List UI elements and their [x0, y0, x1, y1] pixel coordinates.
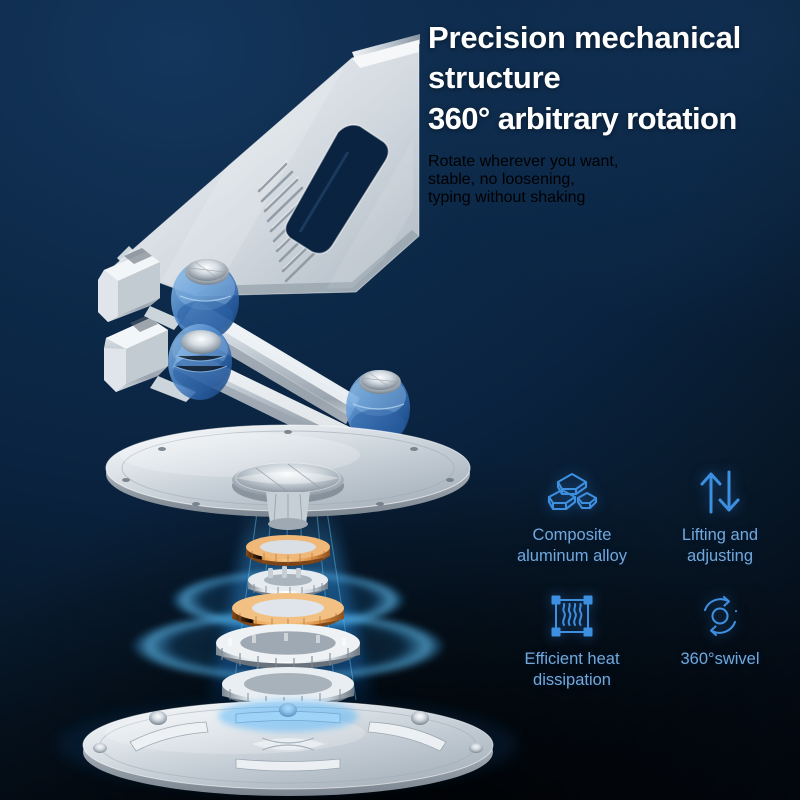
feature-360-swivel: 360°swivel [646, 590, 794, 692]
feature-label: 360°swivel [680, 649, 759, 670]
page-title: Precision mechanical structure 360° arbi… [428, 18, 790, 139]
bearing-ring-copper-upper [246, 535, 330, 566]
aluminum-ingots-icon [545, 466, 599, 518]
product-marketing-poster: Precision mechanical structure 360° arbi… [0, 0, 800, 800]
base-glow [218, 700, 358, 732]
heat-dissipation-icon [548, 590, 596, 642]
feature-label: Efficient heat dissipation [524, 649, 619, 692]
subcopy-line-2: stable, no loosening, [428, 171, 790, 189]
tablet-back-plate [114, 34, 470, 300]
feature-grid: Composite aluminum alloy Lifting and adj… [498, 466, 794, 692]
feature-lifting-and-adjusting: Lifting and adjusting [646, 466, 794, 568]
headline-line-3: 360° arbitrary rotation [428, 99, 790, 139]
rotating-top-disc [106, 425, 470, 530]
feature-label: Lifting and adjusting [682, 525, 758, 568]
rotation-360-icon [695, 590, 745, 642]
headline-line-1: Precision mechanical [428, 18, 790, 58]
bearing-stack [130, 535, 446, 718]
headline-line-2: structure [428, 58, 790, 98]
feature-composite-aluminum-alloy: Composite aluminum alloy [498, 466, 646, 568]
copy-block: Precision mechanical structure 360° arbi… [428, 18, 790, 223]
feature-label: Composite aluminum alloy [517, 525, 627, 568]
feature-efficient-heat-dissipation: Efficient heat dissipation [498, 590, 646, 692]
mid-hinge-knob [168, 324, 232, 400]
subcopy-line-1: Rotate wherever you want, [428, 153, 790, 171]
up-down-arrows-icon [697, 466, 743, 518]
subcopy-line-3: typing without shaking [428, 189, 790, 207]
